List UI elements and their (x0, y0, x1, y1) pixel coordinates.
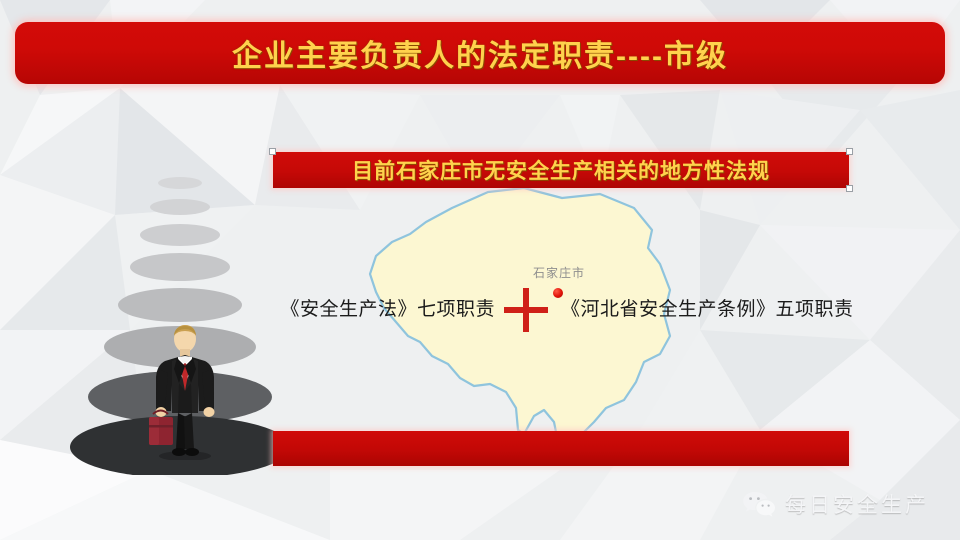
title-banner: 企业主要负责人的法定职责----市级 (15, 22, 945, 84)
watermark: 每日安全生产 (742, 484, 929, 524)
left-statute-text: 《安全生产法》七项职责 (280, 290, 495, 324)
city-label-shijiazhuang: 石家庄市 (533, 264, 585, 281)
resize-handle-bottom-right[interactable] (846, 185, 853, 192)
subtitle-banner[interactable]: 目前石家庄市无安全生产相关的地方性法规 (273, 152, 849, 188)
bottom-red-bar[interactable] (273, 431, 849, 466)
pedestal-ellipse-4 (130, 253, 230, 281)
page-title: 企业主要负责人的法定职责----市级 (232, 31, 728, 75)
businessman-figure (145, 325, 225, 460)
pedestal-ellipse-1 (158, 177, 202, 189)
watermark-text: 每日安全生产 (785, 489, 929, 519)
pedestal-ellipse-3 (140, 224, 220, 246)
pedestal-ellipse-5 (118, 288, 242, 322)
wechat-icon (742, 490, 776, 518)
right-statute-text: 《河北省安全生产条例》五项职责 (561, 290, 861, 324)
plus-sign-icon (504, 288, 548, 332)
resize-handle-top-right[interactable] (846, 148, 853, 155)
pedestal-ellipse-2 (150, 199, 210, 215)
subtitle-text: 目前石家庄市无安全生产相关的地方性法规 (352, 155, 770, 185)
resize-handle-top-left[interactable] (269, 148, 276, 155)
slide-canvas: 石家庄市 企业主要负责人的法定职责----市级 目前石家庄市无安全生产相关的地方… (0, 0, 960, 540)
